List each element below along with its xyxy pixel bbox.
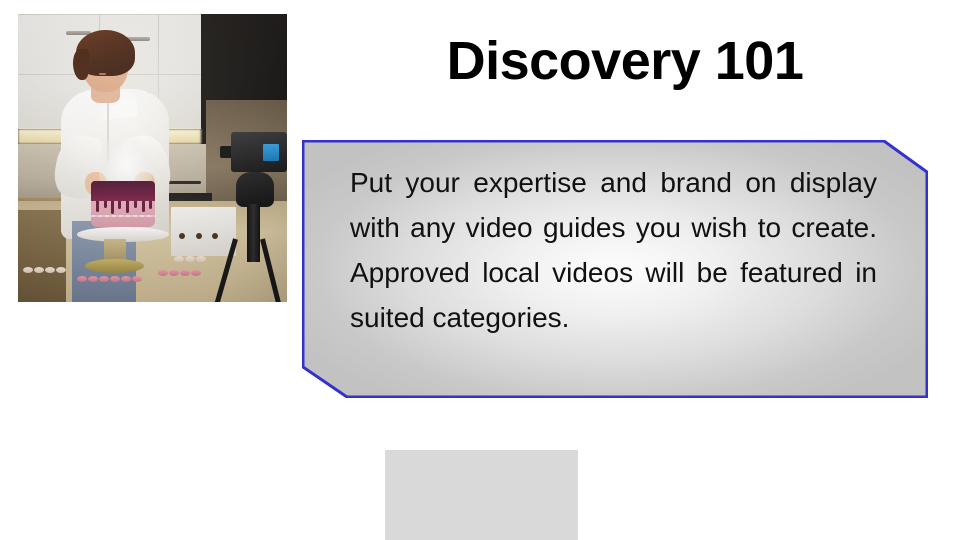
macaron [99, 276, 109, 282]
slide-canvas: Discovery 101 Put your expertise and bra… [0, 0, 960, 540]
drip [96, 201, 99, 212]
macaron [185, 256, 195, 262]
macaron [132, 276, 142, 282]
kitchen-photo [18, 14, 287, 302]
macaron-row [77, 276, 142, 282]
drip [126, 201, 129, 213]
cake-ganache-drip [91, 181, 156, 201]
chef-eye [92, 60, 97, 62]
drip [111, 201, 114, 214]
camera-screen [263, 144, 279, 161]
macaron [110, 276, 120, 282]
macaron [88, 276, 98, 282]
macaron [121, 276, 131, 282]
chef-mouth [99, 73, 106, 75]
lower-cabinet [18, 210, 66, 302]
chocolate-dot [196, 233, 202, 239]
chef-eye [112, 60, 117, 62]
macaron-row [23, 267, 66, 273]
macaron [174, 256, 184, 262]
macaron [191, 270, 201, 276]
page-title: Discovery 101 [300, 32, 950, 90]
cabinet-seam [18, 14, 201, 15]
sugar-decoration [99, 135, 153, 187]
pastry-box [171, 207, 236, 256]
drip [134, 201, 137, 208]
tripod-column [247, 204, 260, 262]
macaron [169, 270, 179, 276]
callout-body-text: Put your expertise and brand on display … [350, 160, 877, 340]
chocolate-dot [212, 233, 218, 239]
cake-pearl-border [91, 215, 156, 217]
drip [142, 201, 145, 212]
macaron [180, 270, 190, 276]
macaron [158, 270, 168, 276]
macaron [34, 267, 44, 273]
macaron [77, 276, 87, 282]
drip [149, 201, 152, 209]
photo-illustration [18, 14, 287, 302]
macaron [196, 256, 206, 262]
content-placeholder[interactable] [385, 450, 578, 540]
macaron-row [174, 256, 206, 262]
macaron-row [158, 270, 201, 276]
chef-hair-strand [73, 49, 89, 81]
macaron [45, 267, 55, 273]
macaron [23, 267, 33, 273]
macaron [56, 267, 66, 273]
tripod-head [236, 172, 274, 207]
drip [104, 201, 107, 208]
